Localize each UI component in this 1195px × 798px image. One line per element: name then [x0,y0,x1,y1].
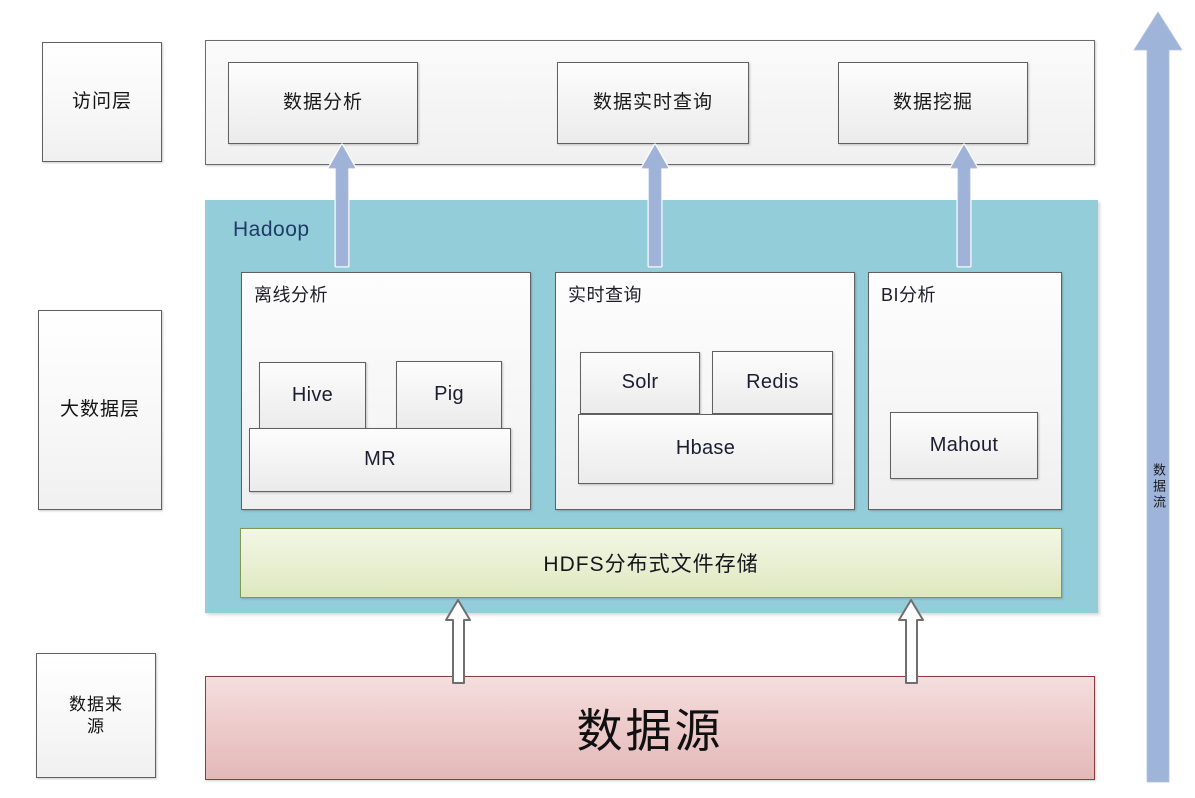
hdfs-storage-label: HDFS分布式文件存储 [543,548,758,578]
hadoop-group-realtime-query-title: 实时查询 [568,281,642,307]
tech-box-solr[interactable]: Solr [580,352,700,414]
data-source-bar[interactable]: 数据源 [205,676,1095,780]
access-box-data-mining[interactable]: 数据挖掘 [838,62,1028,144]
access-box-data-analysis-label: 数据分析 [283,91,363,115]
tech-box-redis[interactable]: Redis [712,351,833,414]
access-box-data-analysis[interactable]: 数据分析 [228,62,418,144]
stage-label-access-text: 访问层 [72,90,132,114]
tech-box-hive-label: Hive [292,383,333,409]
arrow-source-to-hdfs-left [442,597,474,689]
tech-box-mr-label: MR [364,447,396,473]
hdfs-storage-bar[interactable]: HDFS分布式文件存储 [240,528,1062,598]
tech-box-mr[interactable]: MR [249,428,511,492]
tech-box-solr-label: Solr [622,370,659,396]
diagram-canvas: 访问层 大数据层 数据来源 数据分析 数据实时查询 数据挖掘 Hadoop 离线… [0,0,1195,798]
arrow-source-to-hdfs-right [895,597,927,689]
stage-label-access: 访问层 [42,42,162,162]
tech-box-hbase[interactable]: Hbase [578,414,833,484]
hadoop-title: Hadoop [233,218,310,242]
tech-box-pig[interactable]: Pig [396,361,502,429]
hadoop-group-offline-analysis-title: 离线分析 [254,281,328,307]
stage-label-bigdata-text: 大数据层 [60,398,140,422]
tech-box-redis-label: Redis [746,370,799,396]
stage-label-source-text: 数据来源 [61,694,131,738]
access-box-data-mining-label: 数据挖掘 [893,91,973,115]
arrow-bi-to-mining [948,142,980,272]
tech-box-mahout-label: Mahout [930,433,999,459]
tech-box-pig-label: Pig [434,382,464,408]
stage-label-bigdata: 大数据层 [38,310,162,510]
tech-box-hive[interactable]: Hive [259,362,366,429]
stage-label-source: 数据来源 [36,653,156,778]
arrow-realtime-to-query [639,142,671,272]
data-flow-arrow [1128,6,1188,797]
data-source-label: 数据源 [577,695,724,761]
arrow-offline-to-analysis [326,142,358,272]
access-box-realtime-query[interactable]: 数据实时查询 [557,62,749,144]
access-box-realtime-query-label: 数据实时查询 [593,91,713,115]
data-flow-arrow-label: 数据流 [1152,452,1165,522]
tech-box-mahout[interactable]: Mahout [890,412,1038,479]
tech-box-hbase-label: Hbase [676,436,735,462]
hadoop-group-bi-analysis-title: BI分析 [881,281,936,307]
